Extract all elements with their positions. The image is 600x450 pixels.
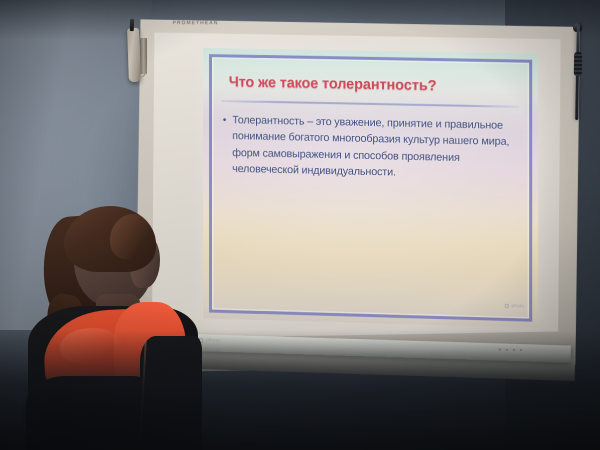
- classroom-scene: PROMETHEAN Что же такое толерантность? •…: [0, 0, 600, 450]
- slide-body-text: Толерантность – это уважение, принятие и…: [232, 112, 518, 184]
- promethean-brand-label: PROMETHEAN: [173, 20, 219, 26]
- watermark-box-icon: [505, 304, 510, 309]
- interactive-whiteboard[interactable]: PROMETHEAN Что же такое толерантность? •…: [135, 14, 580, 375]
- pen-holder-hook: [137, 58, 147, 78]
- marker-pen-tip-icon: [130, 19, 134, 31]
- slide-watermark: photo: [505, 303, 524, 310]
- hair-highlight: [110, 214, 154, 260]
- slide-watermark-label: photo: [511, 303, 524, 309]
- slide-body-block: • Толерантность – это уважение, принятие…: [223, 112, 518, 184]
- bullet-icon: •: [223, 112, 226, 177]
- projected-slide[interactable]: Что же такое толерантность? • Толерантно…: [203, 48, 538, 328]
- marker-pen[interactable]: [127, 28, 141, 82]
- whiteboard-surface[interactable]: Что же такое толерантность? • Толерантно…: [152, 27, 561, 345]
- pointer-stick-grip: [574, 52, 582, 76]
- floor-shadow: [0, 330, 600, 450]
